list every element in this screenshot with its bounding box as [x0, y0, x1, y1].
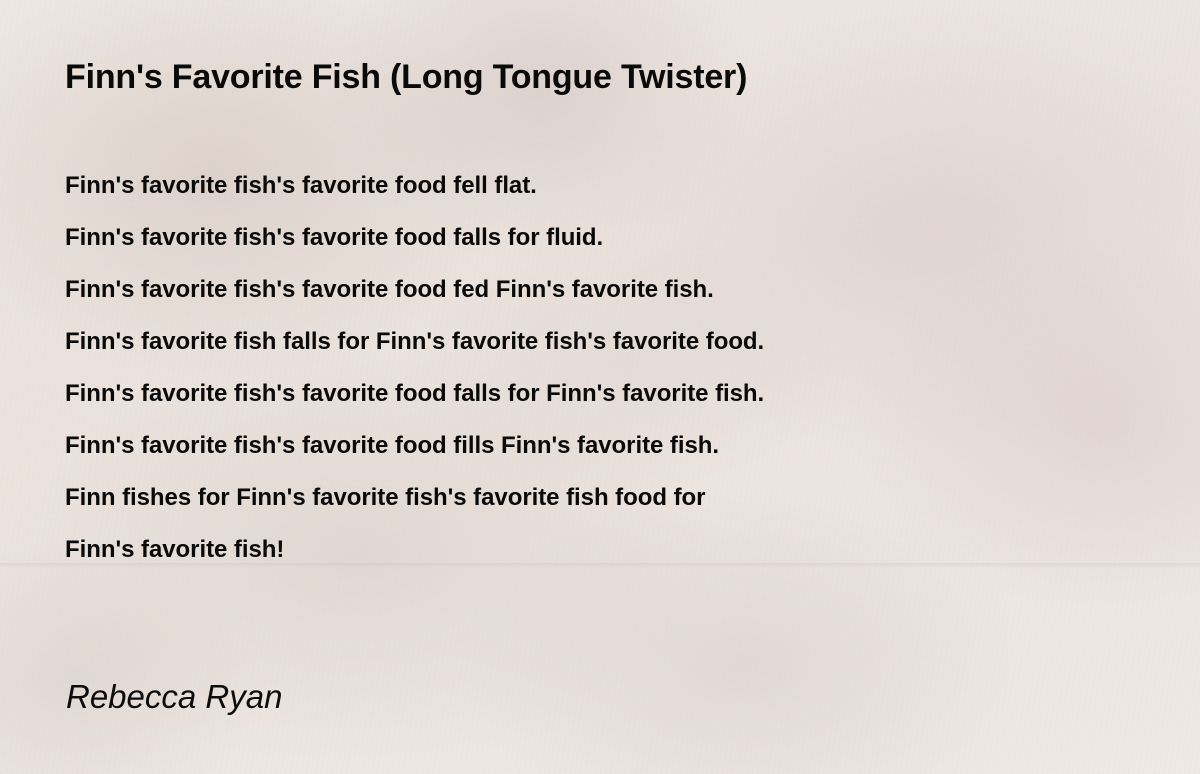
poem-line: Finn's favorite fish! — [65, 524, 1145, 576]
poem-author: Rebecca Ryan — [66, 676, 282, 718]
poem-line: Finn's favorite fish falls for Finn's fa… — [65, 316, 1145, 368]
poem-line: Finn's favorite fish's favorite food fil… — [65, 420, 1145, 472]
poem-title: Finn's Favorite Fish (Long Tongue Twiste… — [65, 55, 747, 99]
poem-content: Finn's Favorite Fish (Long Tongue Twiste… — [0, 0, 1200, 774]
poem-body: Finn's favorite fish's favorite food fel… — [65, 160, 1145, 576]
poem-line: Finn's favorite fish's favorite food fel… — [65, 160, 1145, 212]
poem-line: Finn's favorite fish's favorite food fed… — [65, 264, 1145, 316]
poem-line: Finn fishes for Finn's favorite fish's f… — [65, 472, 1145, 524]
poem-line: Finn's favorite fish's favorite food fal… — [65, 212, 1145, 264]
poem-card: Finn's Favorite Fish (Long Tongue Twiste… — [0, 0, 1200, 774]
poem-line: Finn's favorite fish's favorite food fal… — [65, 368, 1145, 420]
